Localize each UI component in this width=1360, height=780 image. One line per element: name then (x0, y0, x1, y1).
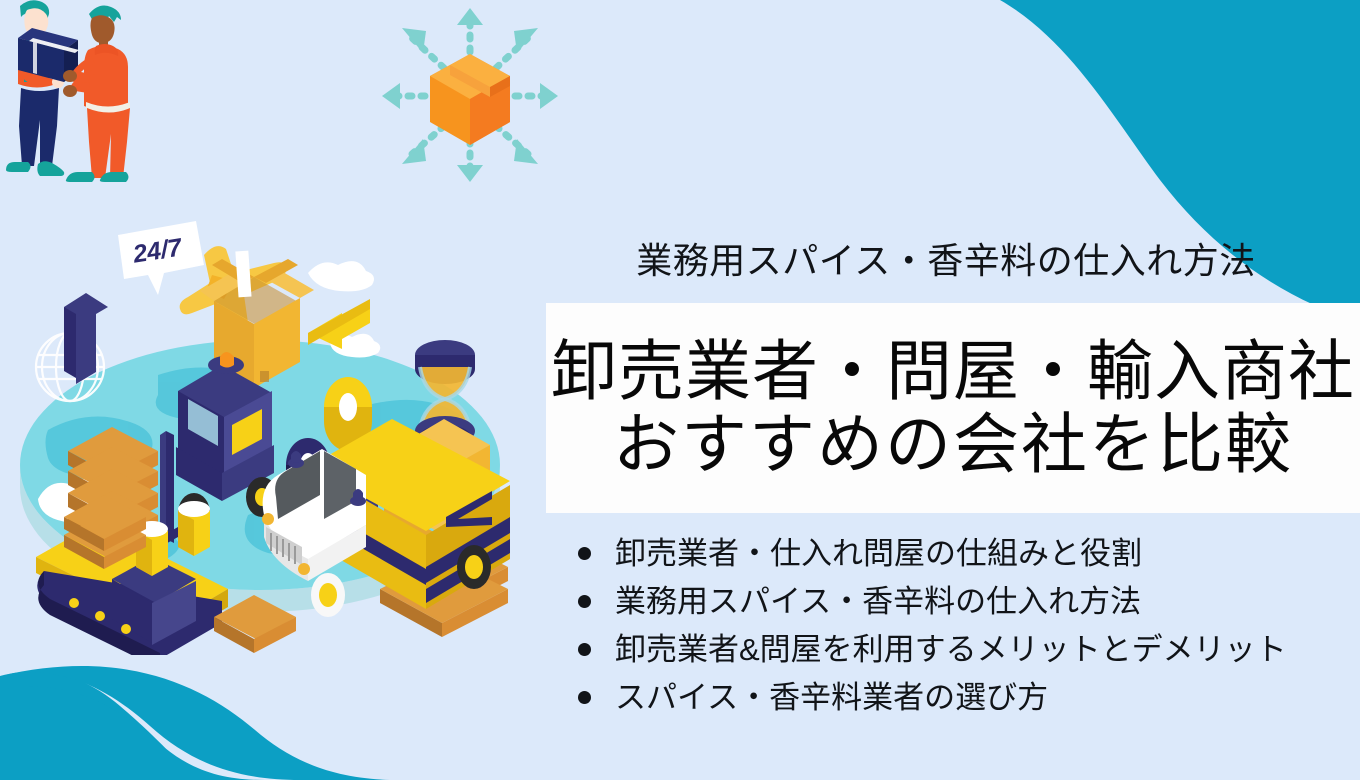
illustration-column: 24/7 (0, 0, 560, 680)
list-item: 業務用スパイス・香辛料の仕入れ方法 (566, 578, 1360, 626)
customer-figure (63, 6, 130, 182)
list-item-label: スパイス・香辛料業者の選び方 (615, 674, 1048, 722)
title-line-2: おすすめの会社を比較 (613, 408, 1293, 481)
banner-root: 24/7 (0, 0, 1360, 780)
list-item: スパイス・香辛料業者の選び方 (566, 674, 1360, 722)
list-item-label: 業務用スパイス・香辛料の仕入れ方法 (615, 578, 1141, 626)
bottom-teal-wave-secondary (0, 666, 390, 780)
list-item: 卸売業者・仕入れ問屋の仕組みと役割 (566, 530, 1360, 578)
bottom-left-teal-wave (0, 671, 196, 780)
navy-arrow-up-left (64, 293, 108, 384)
badge-24-7: 24/7 (118, 221, 204, 295)
bullet-dot-icon (578, 595, 591, 608)
banner-subtitle: 業務用スパイス・香辛料の仕入れ方法 (546, 238, 1346, 284)
list-item: 卸売業者&問屋を利用するメリットとデメリット (566, 626, 1360, 674)
list-item-label: 卸売業者・仕入れ問屋の仕組みと役割 (615, 530, 1142, 578)
list-item-label: 卸売業者&問屋を利用するメリットとデメリット (615, 626, 1287, 674)
bottom-teal-wave-fill (0, 687, 265, 780)
box-distribution-arrows-icon (372, 2, 568, 188)
topic-bullet-list: 卸売業者・仕入れ問屋の仕組みと役割 業務用スパイス・香辛料の仕入れ方法 卸売業者… (566, 530, 1360, 722)
delivery-handoff-icon (0, 0, 186, 204)
title-line-1: 卸売業者・問屋・輸入商社 (551, 335, 1355, 408)
bullet-dot-icon (578, 547, 591, 560)
bullet-dot-icon (578, 691, 591, 704)
bullet-dot-icon (578, 643, 591, 656)
title-card: 卸売業者・問屋・輸入商社 おすすめの会社を比較 (546, 303, 1360, 513)
cargo-ship-icon (36, 495, 228, 655)
global-logistics-icon: 24/7 (8, 215, 538, 655)
